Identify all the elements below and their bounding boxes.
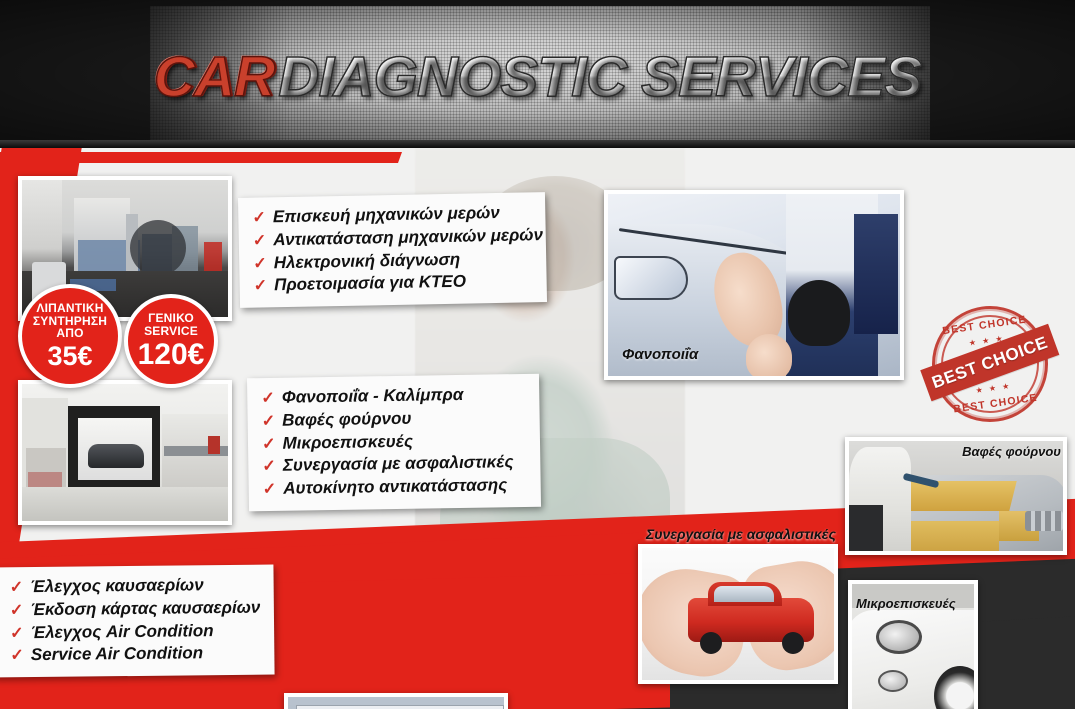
check-icon: ✓	[10, 577, 24, 599]
list-item: ✓Έκδοση κάρτας καυσαερίων	[10, 596, 256, 621]
logo-diagnostic-services-word: DIAGNOSTIC SERVICES	[278, 45, 921, 109]
painting-car-grille	[1025, 511, 1063, 531]
service-label: Αυτοκίνητο αντικατάστασης	[283, 474, 507, 500]
red-foot-accent	[250, 573, 670, 709]
caption-oven-painting: Βαφές φούρνου	[962, 444, 1061, 459]
service-label: Μικροεπισκευές	[282, 430, 413, 455]
logo-car-word: CAR	[154, 45, 279, 109]
best-choice-stamp-icon: BEST CHOICE ★ ★ ★ ★ ★ ★ BEST CHOICE BEST…	[924, 298, 1055, 429]
price-label: ΓΕΝΙΚΟ SERVICE	[144, 312, 198, 338]
check-icon: ✓	[261, 388, 275, 410]
services-panel-bodywork: ✓Φανοποιΐα - Καλίμπρα ✓Βαφές φούρνου ✓Μι…	[247, 374, 541, 511]
insurance-car-wheel-front	[700, 632, 722, 654]
caption-insurance: Συνεργασία με ασφαλιστικές	[646, 526, 836, 542]
check-icon: ✓	[253, 230, 267, 252]
service-label: Έλεγχος Air Condition	[31, 620, 214, 645]
red-top-stripe	[0, 152, 402, 163]
poster-body: Φανοποιΐα Βαφές φούρνου	[0, 148, 1075, 709]
service-label: Προετοιμασία για ΚΤΕΟ	[274, 271, 466, 297]
insurance-car-wheel-rear	[782, 632, 804, 654]
bodywork-blue-overall	[854, 214, 898, 334]
price-label-line-3: ΑΠΟ	[33, 327, 107, 340]
service-label: Service Air Condition	[31, 643, 203, 668]
service-label: Φανοποιΐα - Καλίμπρα	[282, 384, 464, 410]
services-panel-emissions: ✓Έλεγχος καυσαερίων ✓Έκδοση κάρτας καυσα…	[0, 565, 275, 678]
list-item: ✓Έλεγχος καυσαερίων	[10, 574, 256, 599]
caption-minor-repairs: Μικροεπισκευές	[856, 596, 956, 611]
check-icon: ✓	[253, 253, 267, 275]
advertisement-poster: CARDIAGNOSTIC SERVICES	[0, 0, 1075, 709]
check-icon: ✓	[253, 276, 267, 298]
price-label: ΛΙΠΑΝΤΙΚΗ ΣΥΝΤΗΡΗΣΗ ΑΠΟ	[33, 302, 107, 341]
mechanical-services-list: ✓Επισκευή μηχανικών μερών ✓Αντικατάσταση…	[252, 201, 529, 297]
check-icon: ✓	[263, 479, 277, 501]
list-item: ✓Έλεγχος Air Condition	[10, 619, 256, 644]
booth-bench	[164, 446, 232, 456]
list-item: ✓Αυτοκίνητο αντικατάστασης	[263, 474, 523, 501]
insurance-car-window	[714, 586, 774, 602]
bodywork-hand-2	[746, 334, 792, 380]
caption-bodywork: Φανοποιΐα	[622, 346, 698, 363]
paint-booth-scene	[22, 384, 228, 521]
photo-storefront: Car Diagnostic Services CAR	[284, 693, 508, 709]
price-amount: 120€	[138, 340, 205, 370]
minor-repairs-headlight	[876, 620, 922, 654]
price-label-line-2: SERVICE	[144, 325, 198, 338]
service-label: Έλεγχος καυσαερίων	[30, 574, 204, 599]
check-icon: ✓	[10, 623, 24, 645]
header-bottom-bar	[0, 140, 1075, 148]
painting-mask-1	[899, 481, 1016, 511]
insurance-scene	[642, 548, 834, 680]
check-icon: ✓	[10, 645, 24, 667]
check-icon: ✓	[262, 433, 276, 455]
booth-floor	[22, 487, 228, 521]
bodywork-services-list: ✓Φανοποιΐα - Καλίμπρα ✓Βαφές φούρνου ✓Μι…	[261, 383, 523, 501]
check-icon: ✓	[262, 456, 276, 478]
services-panel-mechanical: ✓Επισκευή μηχανικών μερών ✓Αντικατάσταση…	[238, 192, 547, 308]
price-badge-lubrication: ΛΙΠΑΝΤΙΚΗ ΣΥΝΤΗΡΗΣΗ ΑΠΟ 35€	[18, 284, 122, 388]
service-label: Έκδοση κάρτας καυσαερίων	[30, 596, 260, 621]
booth-fire-extinguisher	[208, 436, 220, 454]
booth-car	[88, 444, 144, 468]
company-logo: CARDIAGNOSTIC SERVICES	[0, 44, 1075, 110]
price-amount: 35€	[47, 343, 92, 370]
check-icon: ✓	[252, 207, 266, 229]
minor-repairs-foglight	[878, 670, 908, 692]
storefront-scene: Car Diagnostic Services CAR	[288, 697, 504, 709]
price-label-line-1: ΛΙΠΑΝΤΙΚΗ	[33, 302, 107, 315]
price-badge-general-service: ΓΕΝΙΚΟ SERVICE 120€	[124, 294, 218, 388]
photo-paint-booth	[18, 380, 232, 525]
workshop-dark-area	[130, 220, 186, 276]
header-banner: CARDIAGNOSTIC SERVICES	[0, 0, 1075, 148]
service-label: Βαφές φούρνου	[282, 407, 412, 432]
check-icon: ✓	[10, 600, 24, 622]
painting-dark-corner	[849, 505, 883, 551]
bodywork-wheel-arch	[788, 280, 850, 346]
list-item: ✓Service Air Condition	[10, 642, 256, 667]
bodywork-headlight	[614, 256, 688, 300]
storefront-signboard: Car Diagnostic Services CAR	[296, 705, 504, 709]
price-label-line-1: ΓΕΝΙΚΟ	[144, 312, 198, 325]
photo-insurance	[638, 544, 838, 684]
emissions-services-list: ✓Έλεγχος καυσαερίων ✓Έκδοση κάρτας καυσα…	[10, 574, 257, 668]
check-icon: ✓	[261, 411, 275, 433]
list-item: ✓Προετοιμασία για ΚΤΕΟ	[253, 270, 528, 298]
